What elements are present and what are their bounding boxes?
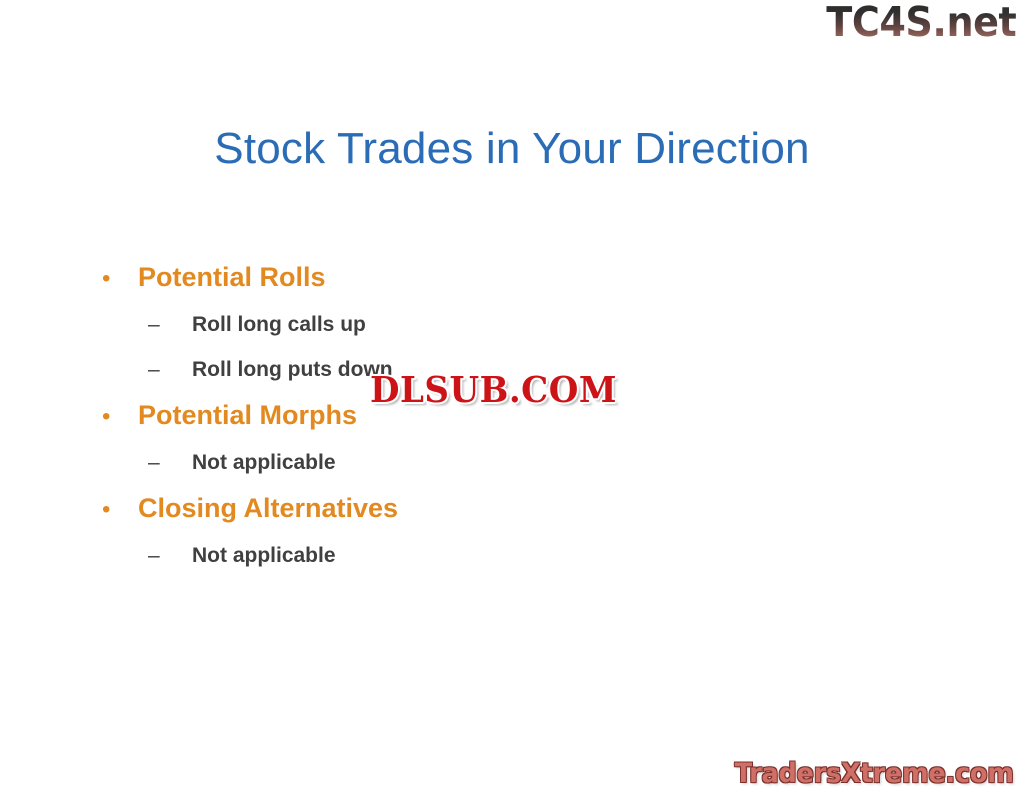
bullet-marker-dot: • xyxy=(96,405,138,429)
bullet-item-level1: • Closing Alternatives xyxy=(96,485,936,531)
bullet-text: Not applicable xyxy=(192,533,336,578)
bullet-text: Roll long calls up xyxy=(192,302,366,347)
bullet-item-level1: • Potential Rolls xyxy=(96,254,936,300)
bullet-item-level2: – Not applicable xyxy=(96,533,936,578)
presentation-slide: TC4S.net Stock Trades in Your Direction … xyxy=(0,0,1024,791)
bullet-item-level2: – Not applicable xyxy=(96,440,936,485)
bullet-marker-dot: • xyxy=(96,498,138,522)
bullet-list: • Potential Rolls – Roll long calls up –… xyxy=(96,254,936,578)
bullet-item-level2: – Roll long calls up xyxy=(96,302,936,347)
dlsub-watermark: DLSUB.COM xyxy=(370,373,617,408)
bullet-text: Potential Morphs xyxy=(138,392,357,438)
bullet-text: Potential Rolls xyxy=(138,254,326,300)
bullet-marker-dot: • xyxy=(96,267,138,291)
bullet-text: Closing Alternatives xyxy=(138,485,398,531)
slide-title: Stock Trades in Your Direction xyxy=(0,125,1024,173)
bullet-marker-dash: – xyxy=(96,359,192,380)
bullet-marker-dash: – xyxy=(96,452,192,473)
tradersxtreme-footer-logo: TradersXtreme.com xyxy=(735,760,1014,787)
bullet-text: Roll long puts down xyxy=(192,347,393,392)
bullet-text: Not applicable xyxy=(192,440,336,485)
bullet-marker-dash: – xyxy=(96,545,192,566)
tc4s-logo: TC4S.net xyxy=(826,2,1016,43)
bullet-marker-dash: – xyxy=(96,314,192,335)
